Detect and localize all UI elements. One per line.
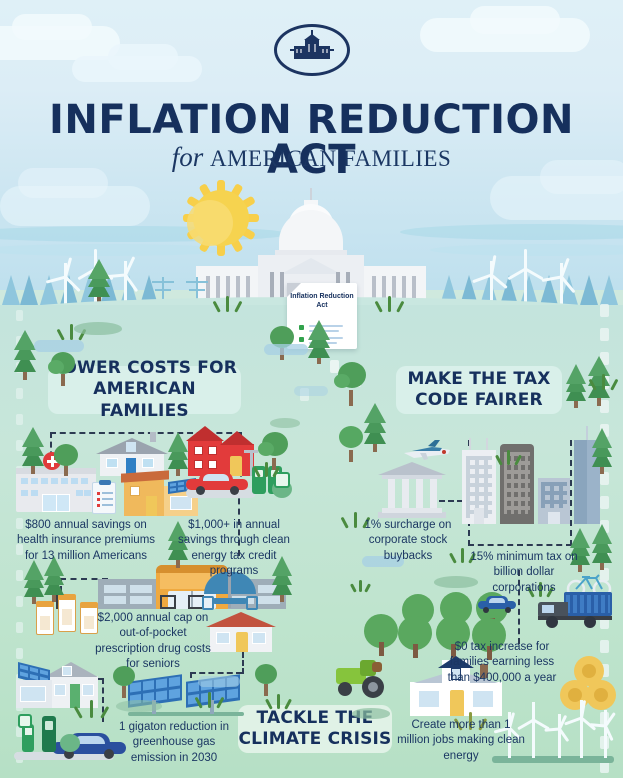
page-subtitle: for AMERICAN FAMILIES [0,142,623,173]
callout-stock-buybacks: 1% surcharge on corporate stock buybacks [352,518,464,564]
cloud-icon [12,14,92,40]
ground-line [128,712,244,716]
pill-bottle-icon [58,598,76,632]
cloud-icon [108,44,178,70]
grass-tuft-icon [216,296,240,312]
callout-no-tax-increase: $0 tax increase for families earning les… [440,640,564,686]
grass-tuft-icon [268,694,290,709]
section-title-line2: CODE FAIRER [407,390,550,411]
subtitle-for: for [172,142,204,172]
wind-turbine-icon [592,710,618,758]
pine-tree-icon [566,364,586,408]
tractor-icon [336,660,396,696]
puddle-icon [34,340,84,352]
red-car-icon [186,470,248,492]
ev-charger-icon [22,724,34,752]
connector-dashed [242,652,244,674]
pine-tree-icon [14,326,36,380]
bush-icon [60,734,80,752]
pine-tree-icon [592,524,612,570]
wind-turbine-icon [52,257,78,305]
pine-tree-icon [364,400,386,452]
grass-tuft-icon [592,374,616,390]
section-title-line2: CLIMATE CRISIS [238,729,391,750]
cloud-icon [470,6,560,34]
office-building-icon [538,478,570,524]
bush-icon [74,322,122,335]
tree-icon [252,664,280,696]
pine-tree-icon [592,428,612,474]
callout-prescription-cap: $2,000 annual cap on out-of-pocket presc… [90,611,216,672]
callout-gigaton: 1 gigaton reduction in greenhouse gas em… [110,720,238,766]
grass-tuft-icon [78,700,106,718]
wind-turbine-icon [568,700,594,758]
pine-tree-icon [308,320,330,364]
white-house-seal-icon [274,24,350,76]
document-title: Inflation Reduction Act [287,292,357,311]
callout-health-premiums: $800 annual savings on health insurance … [10,518,162,564]
cottage-icon [206,608,276,652]
callout-minimum-tax: 15% minimum tax on billion dollar corpor… [466,550,582,596]
shopping-cart-icon [160,595,176,609]
grass-tuft-icon [198,692,222,708]
tree-icon [52,444,80,476]
pine-tree-icon [24,560,44,604]
red-house-icon [186,424,258,476]
house-icon [96,428,168,476]
pine-tree-icon [88,259,110,305]
section-header-tax-code: MAKE THE TAX CODE FAIRER [396,366,562,414]
puddle-icon [198,676,240,687]
pine-tree-icon [168,432,188,476]
bank-icon [378,462,446,518]
grass-tuft-icon [352,580,370,592]
blue-car-icon [478,596,516,612]
tree-icon [48,352,78,386]
infographic-poster: INFLATION REDUCTION ACT for AMERICAN FAM… [0,0,623,778]
pine-tree-icon [22,424,44,474]
callout-clean-energy-tax: $1,000+ in annual savings through clean … [168,518,300,579]
hospital-icon [16,472,96,512]
airplane-icon [402,440,454,462]
callout-clean-energy-jobs: Create more than 1 million jobs making c… [394,718,528,764]
bush-icon [270,418,300,428]
connector-dashed [190,672,242,674]
tree-icon [334,362,368,406]
grass-tuft-icon [498,450,520,465]
grass-tuft-icon [256,462,278,477]
subtitle-rest: AMERICAN FAMILIES [210,146,451,171]
wind-turbine-icon [548,257,574,305]
pill-bottle-icon [36,605,54,635]
ev-charger-icon [42,716,56,752]
clipboard-icon [92,482,116,514]
section-title-line1: MAKE THE TAX [407,369,550,390]
grass-tuft-icon [378,296,402,312]
bush-icon [352,708,390,719]
wind-turbine-icon [112,255,138,305]
skyscraper-icon [462,450,496,524]
patio-table-icon [212,598,248,604]
ev-sign-icon [18,714,32,728]
wind-turbine-icon [512,249,538,305]
bush-icon [116,700,162,712]
puddle-icon [294,386,328,396]
truck-icon [538,592,612,628]
puddle-icon [264,344,308,355]
wind-turbine-icon [478,255,504,305]
tree-icon [336,426,366,462]
